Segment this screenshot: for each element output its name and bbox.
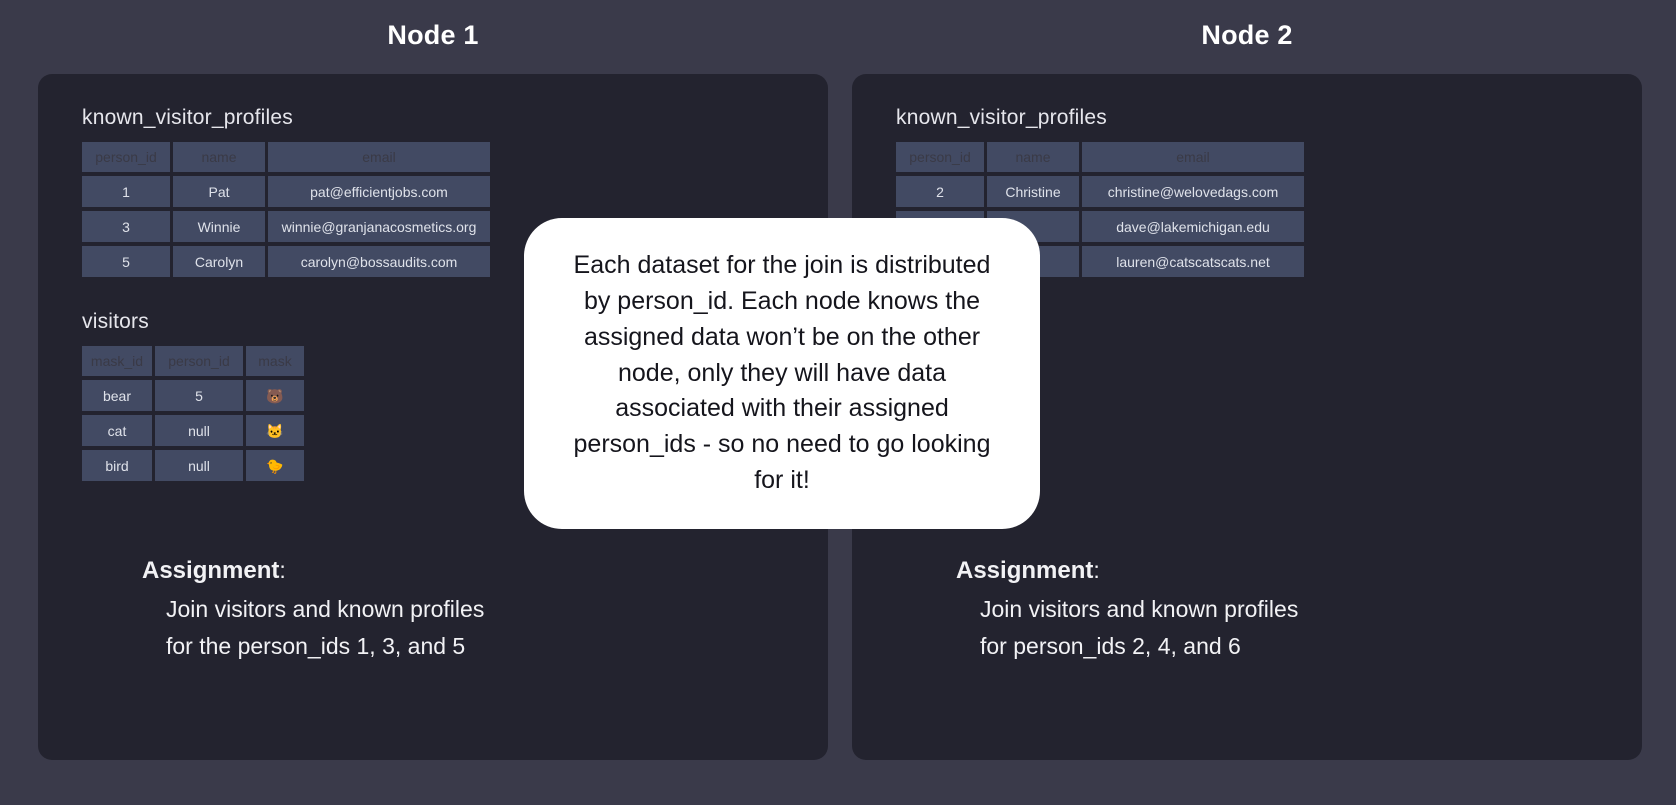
bird-icon: 🐤 xyxy=(246,450,304,481)
cell-email: winnie@granjanacosmetics.org xyxy=(268,211,490,242)
assignment-line-2: for the person_ids 1, 3, and 5 xyxy=(142,628,484,665)
column-header-mask: mask xyxy=(246,346,304,376)
cell-mask-id: cat xyxy=(82,415,152,446)
node-2-profiles-caption: known_visitor_profiles xyxy=(896,106,1307,130)
node-1-profiles-table: person_id name email 1 Pat pat@efficient… xyxy=(79,138,493,281)
column-header-email: email xyxy=(268,142,490,172)
cell-name: Winnie xyxy=(173,211,265,242)
cell-person-id: 5 xyxy=(82,246,170,277)
table-row: cat null 🐱 xyxy=(82,415,304,446)
table-row: 5 Carolyn carolyn@bossaudits.com xyxy=(82,246,490,277)
cell-name: Christine xyxy=(987,176,1079,207)
cell-email: carolyn@bossaudits.com xyxy=(268,246,490,277)
node-1-visitors-caption: visitors xyxy=(82,310,307,334)
column-header-person-id: person_id xyxy=(82,142,170,172)
cell-name: Pat xyxy=(173,176,265,207)
table-row: bird null 🐤 xyxy=(82,450,304,481)
assignment-line-1: Join visitors and known profiles xyxy=(956,591,1298,628)
assignment-colon: : xyxy=(279,557,285,583)
column-header-person-id: person_id xyxy=(896,142,984,172)
column-header-name: name xyxy=(987,142,1079,172)
table-header-row: person_id name email xyxy=(896,142,1304,172)
cell-person-id: 3 xyxy=(82,211,170,242)
cell-person-id: 5 xyxy=(155,380,243,411)
cell-email: pat@efficientjobs.com xyxy=(268,176,490,207)
node-1-title: Node 1 xyxy=(38,20,828,51)
assignment-line-2: for person_ids 2, 4, and 6 xyxy=(956,628,1298,665)
cell-email: christine@welovedags.com xyxy=(1082,176,1304,207)
column-header-person-id: person_id xyxy=(155,346,243,376)
cell-person-id: 2 xyxy=(896,176,984,207)
diagram-canvas: Node 1 known_visitor_profiles person_id … xyxy=(0,0,1676,805)
node-1-visitors-table: mask_id person_id mask bear 5 🐻 cat null xyxy=(79,342,307,485)
node-1-profiles-caption: known_visitor_profiles xyxy=(82,106,493,130)
bear-icon: 🐻 xyxy=(246,380,304,411)
cell-name: Carolyn xyxy=(173,246,265,277)
node-2-title: Node 2 xyxy=(852,20,1642,51)
cell-person-id: null xyxy=(155,450,243,481)
cell-mask-id: bird xyxy=(82,450,152,481)
assignment-label: Assignment xyxy=(956,557,1093,584)
assignment-line-1: Join visitors and known profiles xyxy=(142,591,484,628)
table-header-row: person_id name email xyxy=(82,142,490,172)
cell-person-id: null xyxy=(155,415,243,446)
callout-text: Each dataset for the join is distributed… xyxy=(558,248,1006,498)
column-header-name: name xyxy=(173,142,265,172)
node-1-profiles-table-block: known_visitor_profiles person_id name em… xyxy=(82,106,493,281)
cell-email: lauren@catscatscats.net xyxy=(1082,246,1304,277)
table-row: bear 5 🐻 xyxy=(82,380,304,411)
node-1-assignment: Assignment: Join visitors and known prof… xyxy=(142,552,484,665)
cell-person-id: 1 xyxy=(82,176,170,207)
assignment-colon: : xyxy=(1093,557,1099,583)
column-header-email: email xyxy=(1082,142,1304,172)
callout-bubble: Each dataset for the join is distributed… xyxy=(524,218,1040,529)
node-1-visitors-table-block: visitors mask_id person_id mask bear 5 🐻 xyxy=(82,310,307,485)
cat-icon: 🐱 xyxy=(246,415,304,446)
assignment-label: Assignment xyxy=(142,557,279,584)
table-row: 3 Winnie winnie@granjanacosmetics.org xyxy=(82,211,490,242)
cell-mask-id: bear xyxy=(82,380,152,411)
table-header-row: mask_id person_id mask xyxy=(82,346,304,376)
table-row: 1 Pat pat@efficientjobs.com xyxy=(82,176,490,207)
cell-email: dave@lakemichigan.edu xyxy=(1082,211,1304,242)
node-2-assignment: Assignment: Join visitors and known prof… xyxy=(956,552,1298,665)
column-header-mask-id: mask_id xyxy=(82,346,152,376)
table-row: 2 Christine christine@welovedags.com xyxy=(896,176,1304,207)
